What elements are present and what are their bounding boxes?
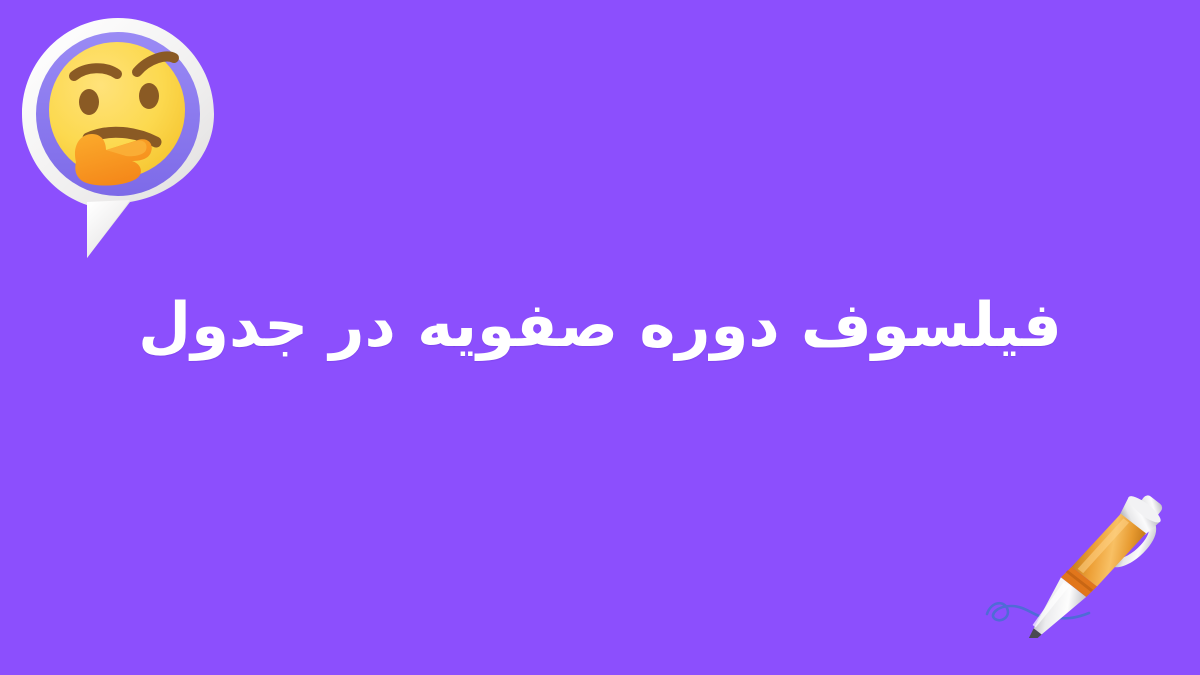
left-eye [79,89,99,115]
speech-bubble-tail [87,200,130,258]
ballpoint-pen-illustration [965,468,1190,638]
cover-banner: فیلسوف دوره صفویه در جدول [0,0,1200,675]
thinking-face-badge [18,14,218,262]
page-title: فیلسوف دوره صفویه در جدول [138,288,1062,364]
right-eye [139,83,159,109]
